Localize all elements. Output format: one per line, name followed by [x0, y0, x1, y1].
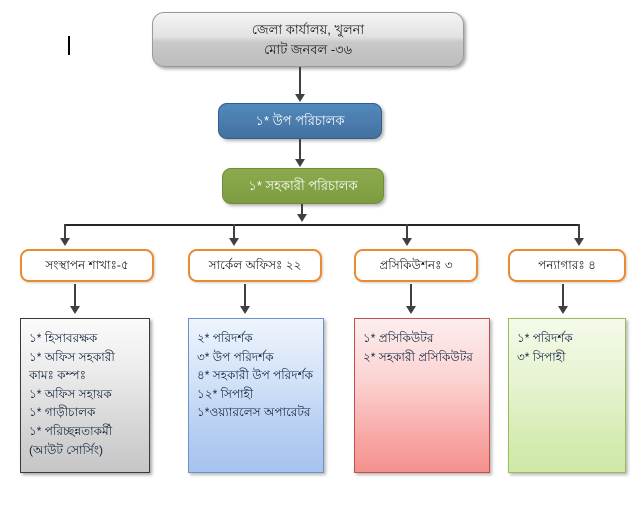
text-caret [68, 36, 70, 55]
staff-item: ২* পরিদর্শক [197, 329, 315, 348]
staff-list-warehouse[interactable]: ১* পরিদর্শক ৩* সিপাহী [508, 318, 626, 473]
staff-item: ১* গাড়ীচালক [29, 403, 141, 422]
staff-item: কামঃ কম্পঃ [29, 366, 141, 385]
staff-item: ৪* সহকারী উপ পরিদর্শক [197, 366, 315, 385]
org-node-root[interactable]: জেলা কার্যালয়, খুলনা মোট জনবল -৩৬ [152, 12, 464, 67]
bus-stem-arrow [297, 214, 307, 222]
staff-item: ১* পরিদর্শক [517, 329, 617, 348]
dept-header-label-3: পন্যাগারঃ ৪ [538, 257, 596, 273]
organogram-canvas: জেলা কার্যালয়, খুলনা মোট জনবল -৩৬ ১* উপ… [0, 0, 640, 507]
dept-header-establishment[interactable]: সংস্থাপন শাখাঃ-৫ [20, 249, 154, 282]
staff-list-circle-office[interactable]: ২* পরিদর্শক ৩* উপ পরিদর্শক ৪* সহকারী উপ … [188, 318, 324, 473]
dept-header-warehouse[interactable]: পন্যাগারঃ ৪ [508, 249, 626, 282]
dept-header-prosecution[interactable]: প্রসিকিউশনঃ ৩ [354, 249, 478, 282]
org-node-deputy-director[interactable]: ১* উপ পরিচালক [218, 103, 382, 139]
root-title-line-2: মোট জনবল -৩৬ [264, 41, 352, 59]
staff-item: ২* সহকারী প্রসিকিউটর [363, 348, 481, 367]
staff-item: ৩* সিপাহী [517, 348, 617, 367]
assistant-director-label: ১* সহকারী পরিচালক [248, 177, 357, 195]
org-node-assistant-director[interactable]: ১* সহকারী পরিচালক [222, 168, 384, 204]
staff-list-establishment[interactable]: ১* হিসাবরক্ষক ১* অফিস সহকারী কামঃ কম্পঃ … [20, 318, 150, 473]
staff-item: ১* অফিস সহকারী [29, 348, 141, 367]
dept-header-label-0: সংস্থাপন শাখাঃ-৫ [45, 257, 128, 273]
staff-list-prosecution[interactable]: ১* প্রসিকিউটর ২* সহকারী প্রসিকিউটর [354, 318, 490, 473]
dept-header-label-2: প্রসিকিউশনঃ ৩ [379, 257, 452, 273]
staff-item: ১* পরিচ্ছন্নতাকর্মী [29, 422, 141, 441]
dept-header-circle-office[interactable]: সার্কেল অফিসঃ ২২ [188, 249, 322, 282]
staff-item: ১* প্রসিকিউটর [363, 329, 481, 348]
staff-item: ১২* সিপাহী [197, 385, 315, 404]
staff-item: (আউট সোর্সিং) [29, 441, 141, 460]
root-title-line-1: জেলা কার্যালয়, খুলনা [252, 21, 364, 39]
staff-item: ১* হিসাবরক্ষক [29, 329, 141, 348]
staff-item: ১* অফিস সহায়ক [29, 385, 141, 404]
staff-item: ৩* উপ পরিদর্শক [197, 348, 315, 367]
dept-header-label-1: সার্কেল অফিসঃ ২২ [209, 257, 302, 273]
bus-horizontal [64, 224, 580, 226]
deputy-director-label: ১* উপ পরিচালক [256, 112, 345, 130]
staff-item: ১*ওয়্যারলেস অপারেটর [197, 403, 315, 422]
